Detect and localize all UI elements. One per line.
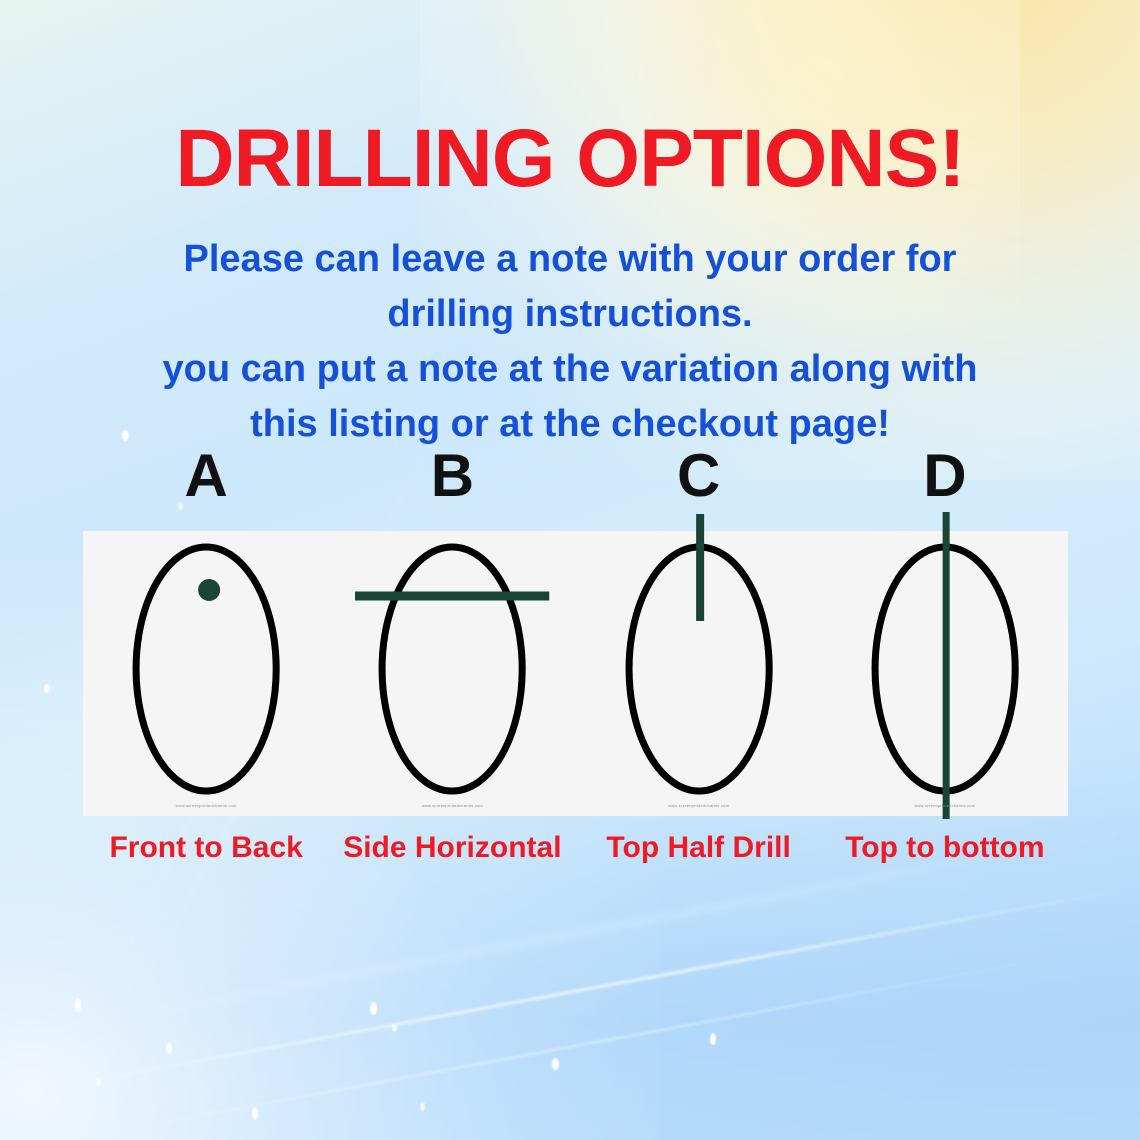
drill-dot-icon <box>198 579 220 601</box>
oval-diagram-c <box>576 531 822 816</box>
page-title: DRILLING OPTIONS! <box>0 118 1140 200</box>
instructions-line-1: Please can leave a note with your order … <box>0 232 1140 287</box>
option-letter-row: A B C D <box>83 446 1068 508</box>
oval-diagram-d <box>822 531 1068 816</box>
watermark-text: www.screenprintedcharms.com <box>576 803 822 808</box>
instructions-block: Please can leave a note with your order … <box>0 232 1140 452</box>
watermark-text: www.screenprintedcharms.com <box>329 803 575 808</box>
option-letter-b: B <box>329 446 575 508</box>
caption-row: Front to Back Side Horizontal Top Half D… <box>83 828 1068 872</box>
instructions-line-2: drilling instructions. <box>0 287 1140 342</box>
instructions-line-4: this listing or at the checkout page! <box>0 397 1140 452</box>
diagram-cell-b: www.screenprintedcharms.com <box>329 531 575 816</box>
option-letter-c: C <box>576 446 822 508</box>
caption-front-to-back: Front to Back <box>83 828 329 872</box>
caption-top-half-drill: Top Half Drill <box>576 828 822 872</box>
option-letter-a: A <box>83 446 329 508</box>
watermark-text: www.screenprintedcharms.com <box>83 803 329 808</box>
diagram-strip: www.screenprintedcharms.com www.screenpr… <box>83 531 1068 816</box>
caption-side-horizontal: Side Horizontal <box>329 828 575 872</box>
watermark-text: www.screenprintedcharms.com <box>822 803 1068 808</box>
diagram-cell-c: www.screenprintedcharms.com <box>576 531 822 816</box>
option-letter-d: D <box>822 446 1068 508</box>
poster-canvas: DRILLING OPTIONS! Please can leave a not… <box>0 0 1140 1140</box>
oval-diagram-a <box>83 531 329 816</box>
caption-top-to-bottom: Top to bottom <box>822 828 1068 872</box>
oval-diagram-b <box>329 531 575 816</box>
diagram-cell-d: www.screenprintedcharms.com <box>822 531 1068 816</box>
instructions-line-3: you can put a note at the variation alon… <box>0 342 1140 397</box>
oval-outline-icon <box>382 547 522 791</box>
diagram-cell-a: www.screenprintedcharms.com <box>83 531 329 816</box>
